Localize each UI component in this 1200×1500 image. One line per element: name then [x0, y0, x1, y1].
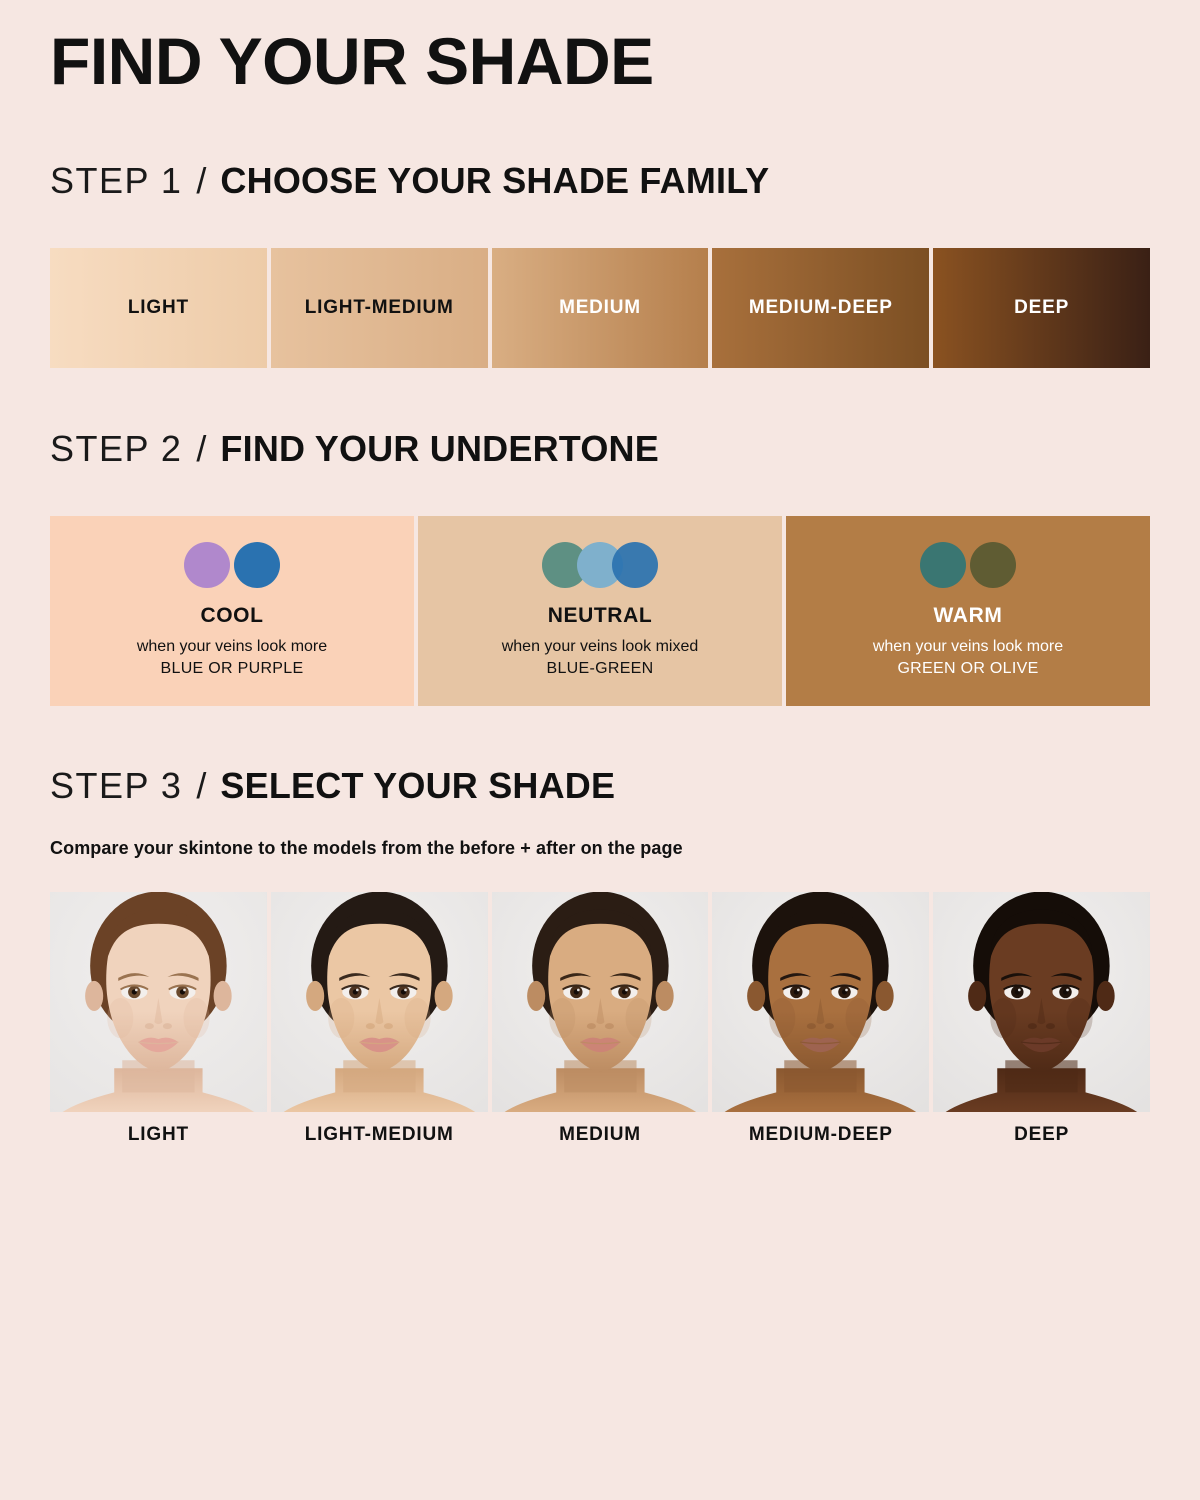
find-your-shade-page: FIND YOUR SHADE STEP 1 / CHOOSE YOUR SHA… [0, 0, 1200, 1500]
model-face-illustration [50, 892, 267, 1112]
shade-swatch-label: DEEP [1014, 297, 1069, 319]
shade-family-bar: LIGHTLIGHT-MEDIUMMEDIUMMEDIUM-DEEPDEEP [50, 248, 1150, 368]
model-label-light: LIGHT [50, 1124, 267, 1146]
step-2-title: FIND YOUR UNDERTONE [220, 428, 659, 470]
undertone-panel-cool[interactable]: COOLwhen your veins look moreBLUE OR PUR… [50, 516, 414, 706]
step-3-title: SELECT YOUR SHADE [220, 765, 615, 807]
undertone-dots [162, 542, 302, 588]
shade-swatch-medium-deep[interactable]: MEDIUM-DEEP [712, 248, 929, 368]
model-photo-light[interactable] [50, 892, 267, 1112]
undertone-panel-warm[interactable]: WARMwhen your veins look moreGREEN OR OL… [786, 516, 1150, 706]
model-labels-row: LIGHTLIGHT-MEDIUMMEDIUMMEDIUM-DEEPDEEP [50, 1124, 1150, 1146]
model-label-deep: DEEP [933, 1124, 1150, 1146]
undertone-description: when your veins look mixedBLUE-GREEN [502, 636, 699, 679]
model-photos-row [50, 892, 1150, 1112]
shade-swatch-medium[interactable]: MEDIUM [492, 248, 709, 368]
model-label-medium: MEDIUM [492, 1124, 709, 1146]
model-face-illustration [712, 892, 929, 1112]
step-2-separator: / [196, 428, 206, 470]
step-2-heading: STEP 2 / FIND YOUR UNDERTONE [50, 428, 659, 470]
undertone-description: when your veins look moreGREEN OR OLIVE [873, 636, 1063, 679]
model-label-light-medium: LIGHT-MEDIUM [271, 1124, 488, 1146]
undertone-description: when your veins look moreBLUE OR PURPLE [137, 636, 327, 679]
undertone-title: NEUTRAL [548, 604, 653, 628]
undertone-title: COOL [200, 604, 263, 628]
shade-swatch-light[interactable]: LIGHT [50, 248, 267, 368]
shade-swatch-label: MEDIUM [559, 297, 641, 319]
step-1-number: STEP 1 [50, 160, 182, 202]
shade-swatch-light-medium[interactable]: LIGHT-MEDIUM [271, 248, 488, 368]
olive-dot [970, 542, 1016, 588]
step-2-number: STEP 2 [50, 428, 182, 470]
undertone-dots [898, 542, 1038, 588]
model-photo-medium[interactable] [492, 892, 709, 1112]
purple-dot [184, 542, 230, 588]
model-photo-medium-deep[interactable] [712, 892, 929, 1112]
undertone-description-line1: when your veins look more [137, 638, 327, 655]
page-title: FIND YOUR SHADE [50, 28, 654, 94]
undertone-title: WARM [934, 604, 1003, 628]
step-3-number: STEP 3 [50, 765, 182, 807]
shade-swatch-deep[interactable]: DEEP [933, 248, 1150, 368]
model-face-illustration [492, 892, 709, 1112]
step-1-separator: / [196, 160, 206, 202]
model-label-medium-deep: MEDIUM-DEEP [712, 1124, 929, 1146]
model-face-illustration [933, 892, 1150, 1112]
step-3-heading: STEP 3 / SELECT YOUR SHADE [50, 765, 615, 807]
blue-dot [234, 542, 280, 588]
model-photo-deep[interactable] [933, 892, 1150, 1112]
step-1-heading: STEP 1 / CHOOSE YOUR SHADE FAMILY [50, 160, 769, 202]
undertone-description-line2: GREEN OR OLIVE [873, 658, 1063, 680]
shade-swatch-label: LIGHT-MEDIUM [305, 297, 454, 319]
step-3-separator: / [196, 765, 206, 807]
undertone-description-line2: BLUE OR PURPLE [137, 658, 327, 680]
undertone-panels: COOLwhen your veins look moreBLUE OR PUR… [50, 516, 1150, 706]
shade-swatch-label: LIGHT [128, 297, 189, 319]
undertone-panel-neutral[interactable]: NEUTRALwhen your veins look mixedBLUE-GR… [418, 516, 782, 706]
model-photo-light-medium[interactable] [271, 892, 488, 1112]
undertone-dots [530, 542, 670, 588]
undertone-description-line1: when your veins look more [873, 638, 1063, 655]
blue-dot [612, 542, 658, 588]
model-face-illustration [271, 892, 488, 1112]
step-1-title: CHOOSE YOUR SHADE FAMILY [220, 160, 769, 202]
undertone-description-line2: BLUE-GREEN [502, 658, 699, 680]
step-3-subtitle: Compare your skintone to the models from… [50, 838, 683, 859]
shade-swatch-label: MEDIUM-DEEP [749, 297, 893, 319]
teal-dot [920, 542, 966, 588]
undertone-description-line1: when your veins look mixed [502, 638, 699, 655]
